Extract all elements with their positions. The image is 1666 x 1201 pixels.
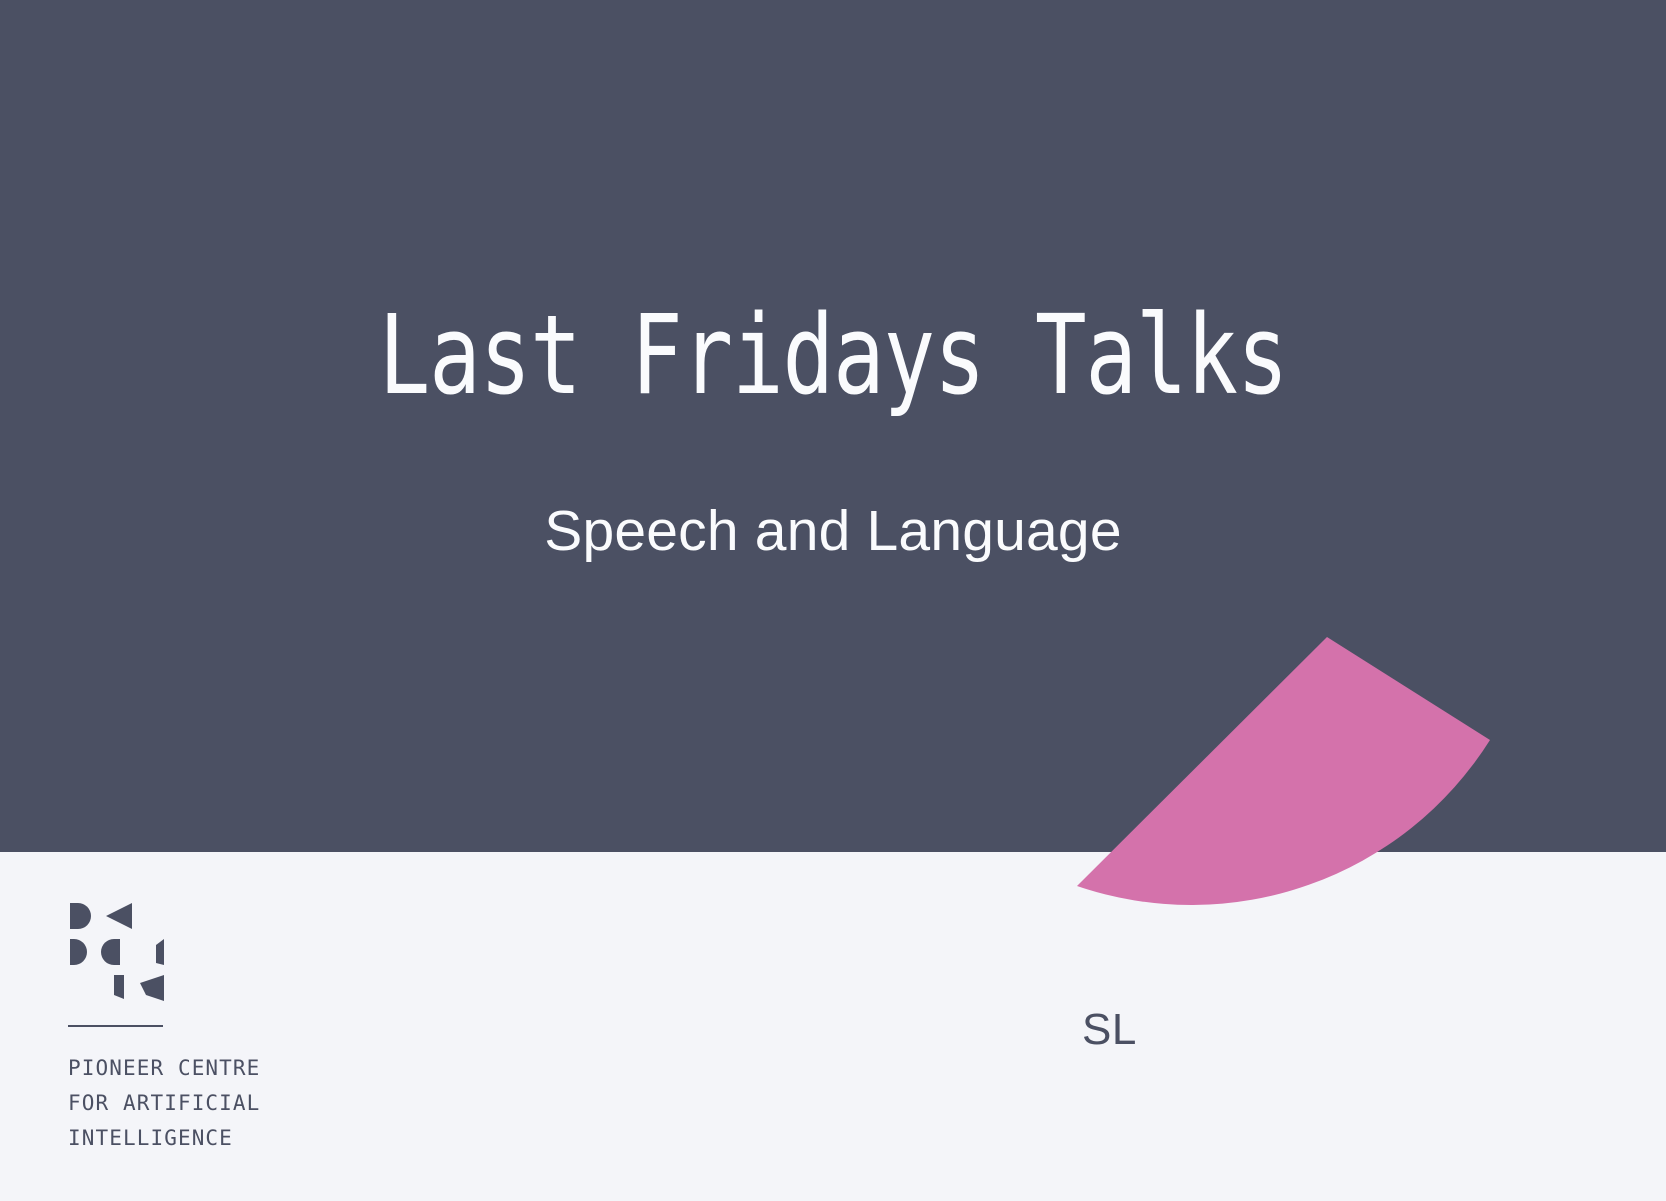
slide-title: Last Fridays Talks xyxy=(183,296,1482,414)
pioneer-centre-logo: PIONEER CENTRE FOR ARTIFICIAL INTELLIGEN… xyxy=(68,895,298,1156)
logo-mark-icon xyxy=(68,895,183,1005)
hero-panel: Last Fridays Talks Speech and Language xyxy=(0,0,1666,852)
presentation-title-slide: Last Fridays Talks Speech and Language S… xyxy=(0,0,1666,1201)
logo-wordmark: PIONEER CENTRE FOR ARTIFICIAL INTELLIGEN… xyxy=(68,1051,298,1156)
logo-wordmark-line-3: INTELLIGENCE xyxy=(68,1121,298,1156)
series-code-label: SL xyxy=(1082,1005,1137,1055)
logo-wordmark-line-1: PIONEER CENTRE xyxy=(68,1051,298,1086)
slide-subtitle: Speech and Language xyxy=(0,495,1666,567)
logo-divider-rule xyxy=(68,1025,163,1027)
logo-wordmark-line-2: FOR ARTIFICIAL xyxy=(68,1086,298,1121)
